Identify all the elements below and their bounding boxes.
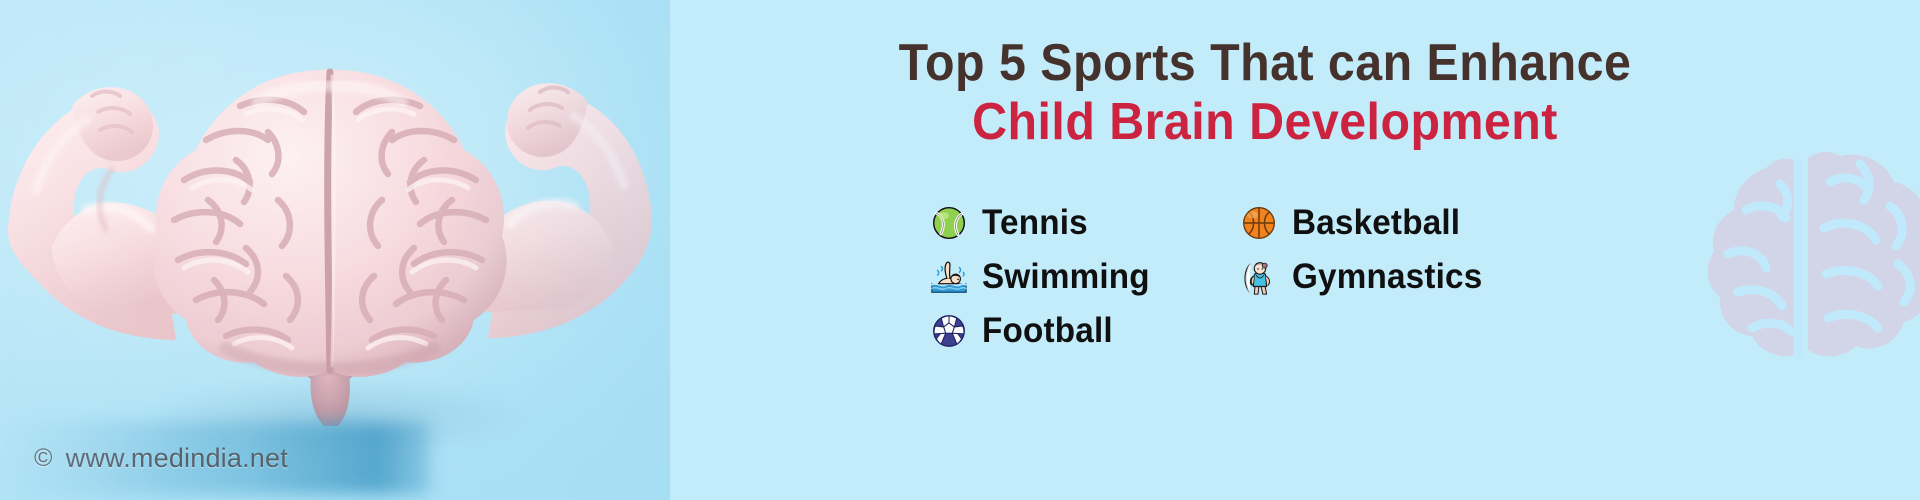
sport-label-tennis: Tennis [982, 203, 1088, 243]
sport-label-basketball: Basketball [1292, 203, 1460, 243]
sport-label-gymnastics: Gymnastics [1292, 257, 1482, 297]
flexing-brain-illustration [0, 10, 660, 430]
watermark-gradient-bar [0, 422, 430, 494]
hero-image-panel: © www.medindia.net [0, 0, 670, 500]
banner-title: Top 5 Sports That can Enhance Child Brai… [670, 34, 1860, 153]
sport-item-swimming: Swimming [930, 257, 1240, 297]
sport-item-gymnastics: Gymnastics [1240, 257, 1590, 297]
infographic-banner: © www.medindia.net Top 5 Sports That can… [0, 0, 1920, 500]
sport-item-tennis: Tennis [930, 203, 1240, 243]
sport-item-basketball: Basketball [1240, 203, 1590, 243]
sport-label-swimming: Swimming [982, 257, 1150, 297]
title-line-1: Top 5 Sports That can Enhance [712, 34, 1819, 93]
sports-list: Tennis Basketball [930, 196, 1590, 358]
sport-item-football: Football [930, 311, 1240, 351]
gymnast-icon [1240, 258, 1278, 296]
title-line-2: Child Brain Development [712, 93, 1819, 152]
copyright-icon: © [34, 446, 53, 471]
tennis-ball-icon [930, 204, 968, 242]
sport-label-football: Football [982, 311, 1113, 351]
site-watermark: © www.medindia.net [34, 443, 288, 474]
swimmer-icon [930, 258, 968, 296]
soccer-ball-icon [930, 312, 968, 350]
basketball-icon [1240, 204, 1278, 242]
hero-floor-shadow [150, 378, 530, 458]
watermark-url: www.medindia.net [66, 443, 288, 474]
